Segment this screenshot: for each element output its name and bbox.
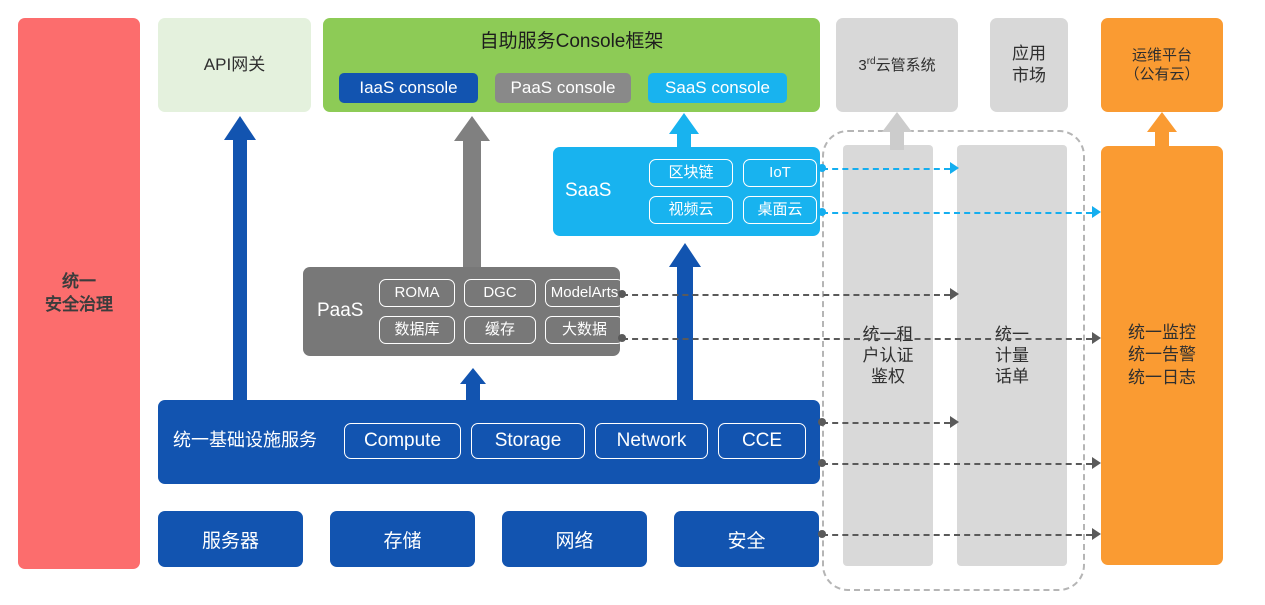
- paas-block: PaaS ROMA DGC ModelArts 数据库 缓存 大数据: [303, 267, 620, 356]
- third-party-cloud-box: 3rd云管系统: [836, 18, 958, 112]
- arrow-infra-to-api-gateway: [224, 116, 256, 400]
- console-framework-title: 自助服务Console框架: [323, 30, 820, 55]
- arrow-infra-to-paas: [460, 368, 486, 400]
- infrastructure-bar: 统一基础设施服务 Compute Storage Network CCE: [158, 400, 820, 484]
- auth-column-line1: 统一租: [863, 324, 914, 345]
- arrow-infra-to-saas: [669, 243, 701, 400]
- third-party-superscript: rd: [867, 56, 876, 67]
- ops-platform-line2: （公有云）: [1124, 65, 1199, 85]
- unified-billing-column: 统一 计量 话单: [957, 145, 1067, 566]
- paas-service-database[interactable]: 数据库: [379, 316, 455, 344]
- connector-paas-to-ops-monitor: [622, 338, 1092, 340]
- app-market-box: 应用 市场: [990, 18, 1068, 112]
- arrow-to-ops-platform: [1147, 112, 1177, 150]
- ops-monitor-line2: 统一告警: [1128, 344, 1196, 366]
- billing-column-line2: 计量: [995, 345, 1029, 366]
- resource-box-storage[interactable]: 存储: [330, 511, 475, 567]
- console-framework-box: 自助服务Console框架 IaaS console PaaS console …: [323, 18, 820, 112]
- third-party-prefix: 3: [858, 57, 866, 74]
- connector-saas-to-auth: [822, 168, 950, 170]
- connector-resource-to-ops-monitor: [822, 534, 1092, 536]
- ops-monitor-line1: 统一监控: [1128, 322, 1196, 344]
- paas-service-bigdata[interactable]: 大数据: [545, 316, 624, 344]
- billing-column-line1: 统一: [995, 324, 1029, 345]
- paas-service-dgc[interactable]: DGC: [464, 279, 536, 307]
- infrastructure-bar-label: 统一基础设施服务: [173, 429, 317, 452]
- security-pillar-line2: 安全治理: [45, 294, 113, 316]
- saas-console-chip[interactable]: SaaS console: [648, 73, 787, 103]
- connector-arrowhead-paas-to-ops: [1092, 332, 1101, 344]
- saas-service-desktop-cloud[interactable]: 桌面云: [743, 196, 817, 224]
- saas-service-iot[interactable]: IoT: [743, 159, 817, 187]
- unified-tenant-auth-column: 统一租 户认证 鉴权: [843, 145, 933, 566]
- api-gateway-label: API网关: [204, 54, 265, 76]
- connector-arrowhead-paas-to-auth: [950, 288, 959, 300]
- security-governance-pillar: 统一 安全治理: [18, 18, 140, 569]
- security-pillar-line1: 统一: [45, 271, 113, 293]
- infra-chip-storage[interactable]: Storage: [471, 423, 585, 459]
- connector-infra-to-ops-monitor: [822, 463, 1092, 465]
- arrow-paas-to-console: [454, 116, 490, 267]
- paas-console-chip[interactable]: PaaS console: [495, 73, 631, 103]
- ops-monitoring-panel: 统一监控 统一告警 统一日志: [1101, 146, 1223, 565]
- api-gateway-box: API网关: [158, 18, 311, 112]
- architecture-diagram: 统一 安全治理 API网关 自助服务Console框架 IaaS console…: [0, 0, 1265, 605]
- infra-chip-network[interactable]: Network: [595, 423, 708, 459]
- infra-chip-cce[interactable]: CCE: [718, 423, 806, 459]
- ops-platform-box: 运维平台 （公有云）: [1101, 18, 1223, 112]
- connector-paas-to-auth: [622, 294, 950, 296]
- connector-infra-to-auth: [822, 422, 950, 424]
- auth-column-line2: 户认证: [863, 345, 914, 366]
- ops-platform-line1: 运维平台: [1124, 46, 1199, 66]
- connector-arrowhead-infra-to-ops: [1092, 457, 1101, 469]
- iaas-console-chip[interactable]: IaaS console: [339, 73, 478, 103]
- connector-saas-to-ops-monitor: [822, 212, 1092, 214]
- billing-column-line3: 话单: [995, 366, 1029, 387]
- paas-service-roma[interactable]: ROMA: [379, 279, 455, 307]
- saas-block-label: SaaS: [565, 179, 611, 204]
- saas-service-video-cloud[interactable]: 视频云: [649, 196, 733, 224]
- connector-arrowhead-resource-to-ops: [1092, 528, 1101, 540]
- ops-monitor-line3: 统一日志: [1128, 367, 1196, 389]
- connector-arrowhead-infra-to-auth: [950, 416, 959, 428]
- third-party-cloud-label: 3rd云管系统: [858, 55, 935, 76]
- resource-box-network[interactable]: 网络: [502, 511, 647, 567]
- app-market-line1: 应用: [1012, 43, 1046, 65]
- third-party-suffix: 云管系统: [876, 57, 936, 74]
- paas-service-cache[interactable]: 缓存: [464, 316, 536, 344]
- saas-block: SaaS 区块链 IoT 视频云 桌面云: [553, 147, 820, 236]
- auth-column-line3: 鉴权: [863, 366, 914, 387]
- resource-box-server[interactable]: 服务器: [158, 511, 303, 567]
- connector-arrowhead-saas-to-auth: [950, 162, 959, 174]
- app-market-line2: 市场: [1012, 65, 1046, 87]
- connector-arrowhead-saas-to-ops: [1092, 206, 1101, 218]
- resource-box-security[interactable]: 安全: [674, 511, 819, 567]
- paas-block-label: PaaS: [317, 299, 363, 324]
- infra-chip-compute[interactable]: Compute: [344, 423, 461, 459]
- paas-service-modelarts[interactable]: ModelArts: [545, 279, 624, 307]
- arrow-saas-to-saas-console: [669, 113, 699, 148]
- saas-service-blockchain[interactable]: 区块链: [649, 159, 733, 187]
